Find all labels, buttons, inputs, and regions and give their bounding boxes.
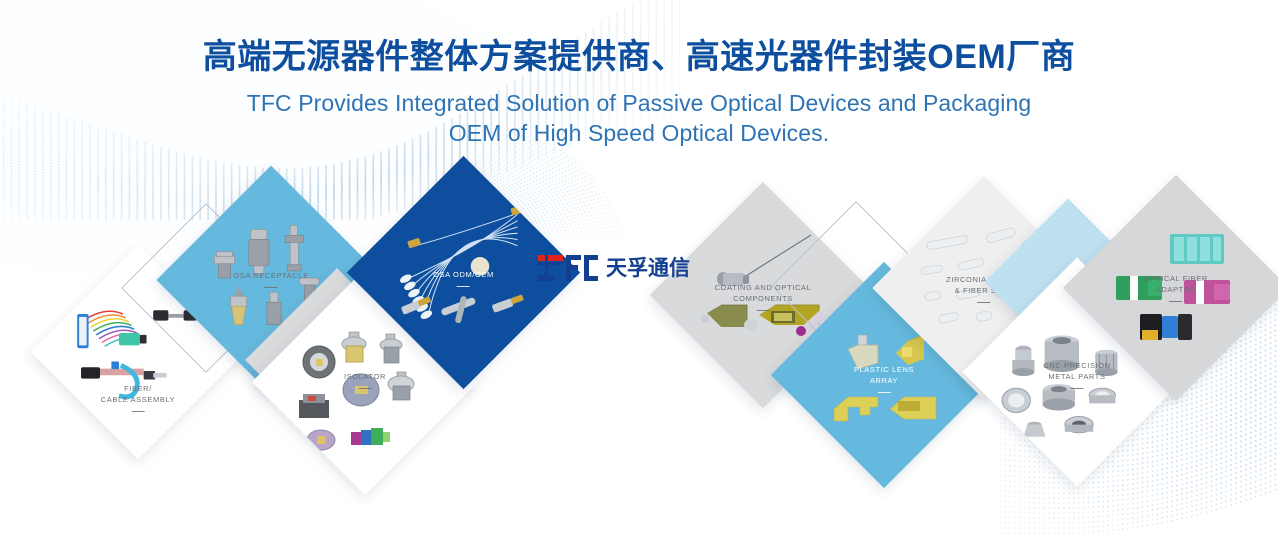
product-tile-inner: OPTICAL FIBERADAPTOR bbox=[1096, 208, 1256, 368]
caption-underline-rule bbox=[756, 310, 769, 312]
product-tile-caption-osa-odm-oem: OSA ODM/OEM bbox=[433, 270, 494, 287]
caption-underline-rule bbox=[877, 392, 890, 394]
caption-underline-rule bbox=[358, 388, 371, 390]
product-tile-caption-isolator: ISOLATOR bbox=[344, 372, 386, 389]
product-tile-caption-cnc-precision: CNC PRECISIONMETAL PARTS bbox=[1043, 361, 1110, 389]
product-tile-caption-plastic-lens-array: PLASTIC LENSARRAY bbox=[854, 365, 914, 393]
caption-underline-rule bbox=[1169, 301, 1182, 303]
caption-underline-rule bbox=[131, 411, 144, 413]
product-tile-inner: OSA ODM/OEM bbox=[381, 190, 546, 355]
caption-line-1: OSA ODM/OEM bbox=[433, 270, 494, 281]
caption-line-1: OSA RECEPTACLE bbox=[233, 271, 308, 282]
product-tile-caption-optical-fiber-adaptor: OPTICAL FIBERADAPTOR bbox=[1144, 274, 1208, 302]
caption-underline-rule bbox=[978, 302, 991, 304]
caption-line-1: FIBER/ bbox=[101, 384, 176, 395]
tfc-logo-chinese: 天孚通信 bbox=[606, 258, 690, 279]
caption-line-2: ARRAY bbox=[854, 376, 914, 387]
headline-english-line2: OEM of High Speed Optical Devices. bbox=[0, 118, 1278, 148]
caption-underline-rule bbox=[1070, 388, 1083, 390]
headline-english: TFC Provides Integrated Solution of Pass… bbox=[0, 88, 1278, 149]
tfc-logomark-icon bbox=[537, 255, 599, 281]
caption-line-2: METAL PARTS bbox=[1043, 372, 1110, 383]
tfc-logo: 天孚通信 bbox=[537, 255, 690, 281]
caption-line-1: OPTICAL FIBER bbox=[1144, 274, 1208, 285]
caption-underline-rule bbox=[265, 287, 278, 289]
caption-line-1: CNC PRECISION bbox=[1043, 361, 1110, 372]
product-tile-caption-osa-receptacle: OSA RECEPTACLE bbox=[233, 271, 308, 288]
caption-line-2: ADAPTOR bbox=[1144, 285, 1208, 296]
headline-english-line1: TFC Provides Integrated Solution of Pass… bbox=[247, 90, 1032, 116]
banner-stage: 高端无源器件整体方案提供商、高速光器件封装OEM厂商 TFC Provides … bbox=[0, 0, 1278, 543]
caption-line-2: CABLE ASSEMBLY bbox=[101, 395, 176, 406]
caption-underline-rule bbox=[457, 285, 470, 287]
headline-chinese: 高端无源器件整体方案提供商、高速光器件封装OEM厂商 bbox=[0, 36, 1278, 79]
caption-line-1: ISOLATOR bbox=[344, 372, 386, 383]
product-tile-caption-fiber-cable-assembly: FIBER/CABLE ASSEMBLY bbox=[101, 384, 176, 412]
headline-block: 高端无源器件整体方案提供商、高速光器件封装OEM厂商 TFC Provides … bbox=[0, 36, 1278, 148]
caption-line-1: PLASTIC LENS bbox=[854, 365, 914, 376]
